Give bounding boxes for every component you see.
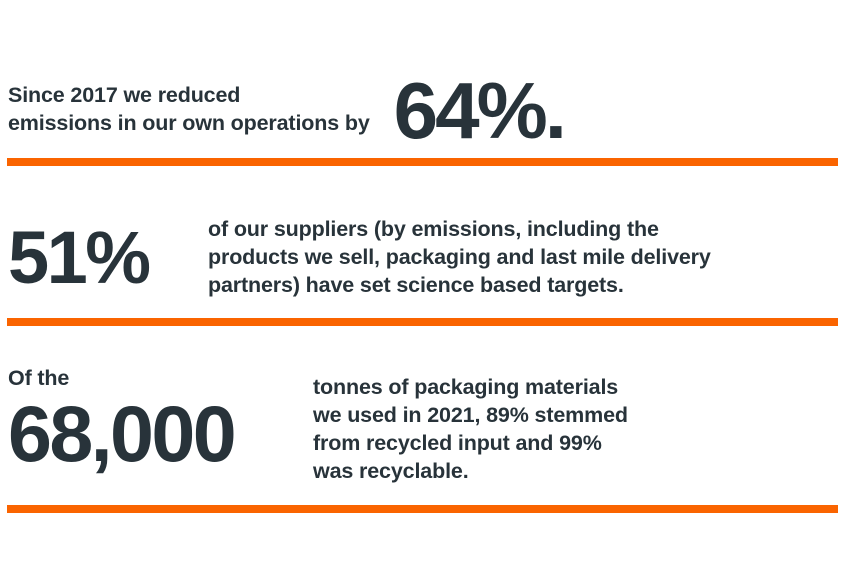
stat-figure-packaging-materials: 68,000 [8,396,234,472]
stat-figure-emissions-reduction: 64%. [394,73,564,152]
stat-figure-supplier-targets: 51% [8,222,208,293]
stat-copy-supplier-targets: of our suppliers (by emissions, includin… [208,216,837,300]
divider-bar-1 [7,158,838,166]
stat-row-supplier-targets: 51% of our suppliers (by emissions, incl… [0,206,845,310]
stat-row-packaging-materials: Of the 68,000 tonnes of packaging materi… [0,366,845,498]
stat-prefix-label-packaging: Of the [8,366,69,392]
stat-copy-packaging-materials: tonnes of packaging materials we used in… [313,366,837,486]
divider-bar-2 [7,318,838,326]
infographic-canvas: Since 2017 we reduced emissions in our o… [0,0,845,563]
stat-row-emissions-reduction: Since 2017 we reduced emissions in our o… [0,62,845,152]
divider-bar-3 [7,505,838,513]
stat-copy-emissions-reduction: Since 2017 we reduced emissions in our o… [8,76,370,138]
stat-figure-group-packaging: Of the 68,000 [8,366,313,472]
